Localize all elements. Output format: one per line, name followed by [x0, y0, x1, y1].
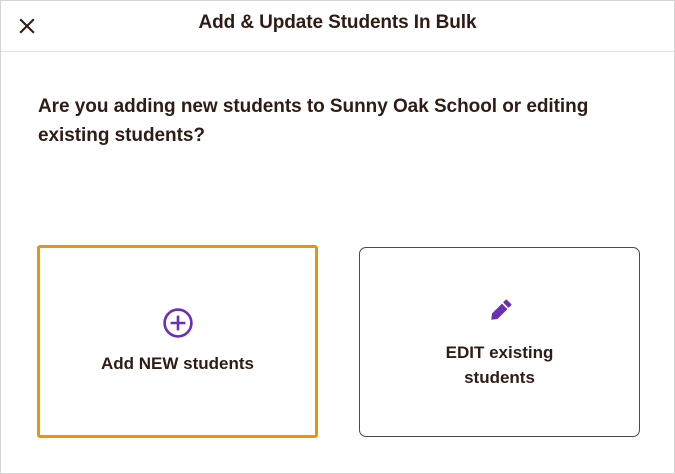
pencil-icon: [483, 294, 517, 328]
option-add-new-students[interactable]: Add NEW students: [37, 245, 318, 438]
dialog-title: Add & Update Students In Bulk: [1, 12, 674, 34]
option-edit-label: EDIT existing students: [415, 340, 585, 390]
dialog-header: Add & Update Students In Bulk: [1, 1, 674, 52]
bulk-students-dialog: Add & Update Students In Bulk Are you ad…: [0, 0, 675, 474]
option-add-label: Add NEW students: [101, 351, 254, 376]
dialog-body: Are you adding new students to Sunny Oak…: [1, 52, 674, 473]
plus-circle-icon: [162, 307, 194, 339]
option-edit-existing-students[interactable]: EDIT existing students: [359, 247, 640, 437]
question-text: Are you adding new students to Sunny Oak…: [38, 92, 598, 150]
